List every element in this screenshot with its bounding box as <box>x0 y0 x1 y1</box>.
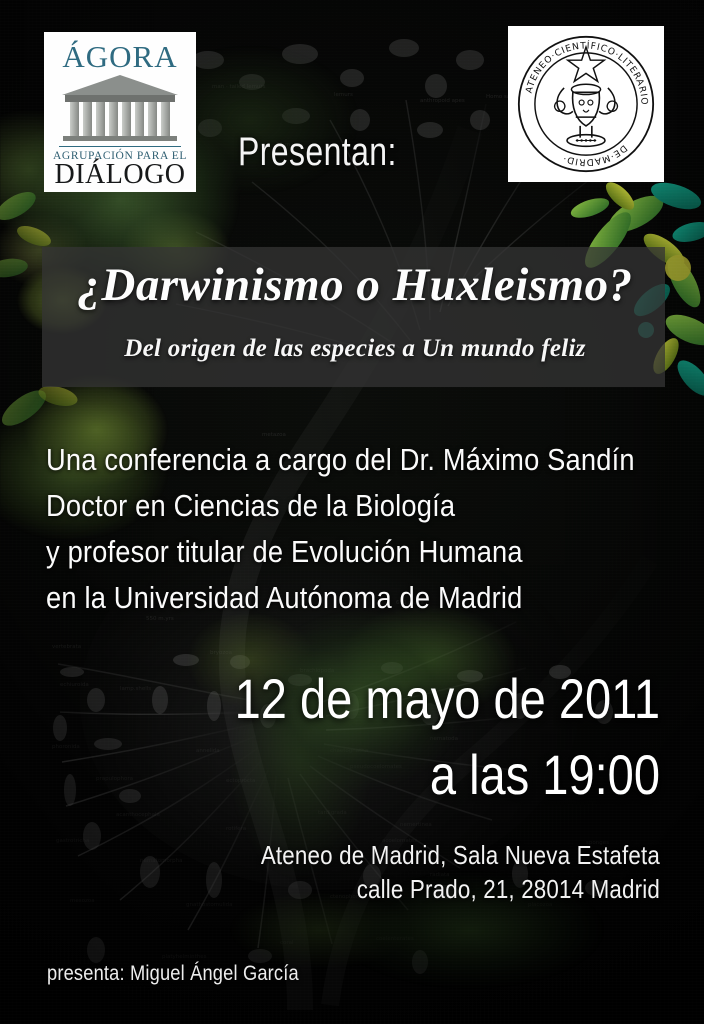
logo-agora[interactable]: ÁGORA AGRUPACIÓN PARA EL DIÁLOGO <box>44 32 196 192</box>
logo-agora-word: ÁGORA <box>62 41 177 72</box>
speaker-line-2: Doctor en Ciencias de la Biología <box>46 483 609 529</box>
poster-header: ÁGORA AGRUPACIÓN PARA EL DIÁLOGO Present… <box>0 0 704 205</box>
event-date: 12 de mayo de 2011 <box>156 668 660 730</box>
speaker-line-3: y profesor titular de Evolución Humana <box>46 529 609 575</box>
speaker-line-4: en la Universidad Autónoma de Madrid <box>46 575 609 621</box>
speaker-line-1: Una conferencia a cargo del Dr. Máximo S… <box>46 437 609 483</box>
venue-line-1: Ateneo de Madrid, Sala Nueva Estafeta <box>144 838 660 872</box>
poster-title: ¿Darwinismo o Huxleismo? <box>60 261 650 310</box>
logo-agora-divider <box>59 146 181 147</box>
speaker-block: Una conferencia a cargo del Dr. Máximo S… <box>46 437 686 621</box>
venue-line-2: calle Prado, 21, 28014 Madrid <box>144 872 660 906</box>
event-time: a las 19:00 <box>156 744 660 806</box>
event-venue-block: Ateneo de Madrid, Sala Nueva Estafeta ca… <box>60 838 660 906</box>
poster-canvas: vertebrata echiuroida lamp.shells bryozo… <box>0 0 704 1024</box>
greek-temple-icon <box>60 75 180 142</box>
ateneo-seal-icon: ATENEO·CIENTÍFICO·LITERARIO·Y·ARTÍSTICO·… <box>513 31 659 177</box>
logo-ateneo-madrid[interactable]: ATENEO·CIENTÍFICO·LITERARIO·Y·ARTÍSTICO·… <box>508 26 664 182</box>
event-datetime-block: 12 de mayo de 2011 a las 19:00 <box>60 668 660 806</box>
presenter-credit: presenta: Miguel Ángel García <box>47 962 299 986</box>
title-banner: ¿Darwinismo o Huxleismo? Del origen de l… <box>42 247 665 387</box>
poster-subtitle: Del origen de las especies a Un mundo fe… <box>60 335 650 363</box>
logo-agora-tagline-bottom: DIÁLOGO <box>54 161 185 189</box>
presentan-label: Presentan: <box>238 130 397 175</box>
